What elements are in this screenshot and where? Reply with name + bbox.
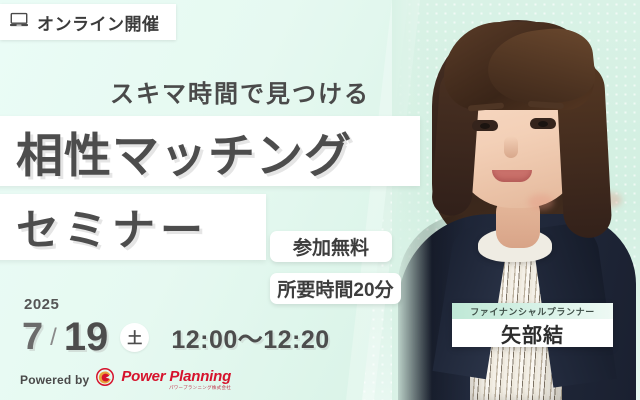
footer-branding: Powered by Power Planning パワープランニング株式会社 — [20, 368, 231, 391]
seminar-banner: オンライン開催 スキマ時間で見つける 相性マッチング セミナー 参加無料 所要時… — [0, 0, 640, 400]
speaker-name: 矢部結 — [452, 319, 613, 347]
logo-subtitle: パワープランニング株式会社 — [121, 386, 231, 391]
eye-right — [530, 118, 556, 129]
pupil-right — [538, 121, 548, 127]
pill-duration: 所要時間20分 — [270, 273, 401, 304]
title-band-primary: 相性マッチング — [0, 116, 420, 186]
event-date-row: 7 / 19 土 12:00〜12:20 — [22, 315, 330, 360]
pill-free-admission: 参加無料 — [270, 231, 392, 262]
event-weekday: 土 — [120, 323, 149, 352]
logo-name: Power Planning — [121, 369, 231, 384]
power-planning-wordmark: Power Planning パワープランニング株式会社 — [121, 369, 231, 391]
title-line-2: セミナー — [16, 196, 208, 258]
date-separator: / — [50, 324, 57, 352]
online-badge: オンライン開催 — [0, 4, 176, 40]
eye-left — [472, 120, 498, 131]
event-day: 19 — [64, 315, 109, 360]
event-month: 7 — [22, 316, 43, 359]
cheek-left — [528, 194, 554, 210]
pupil-left — [480, 123, 490, 129]
photo-left-fade — [392, 0, 432, 400]
mouth — [492, 170, 532, 182]
speaker-name-card: ファイナンシャルプランナー 矢部結 — [452, 303, 613, 347]
title-band-secondary: セミナー — [0, 194, 266, 260]
nose — [504, 136, 518, 158]
power-planning-logo-icon — [96, 368, 114, 391]
title-line-1: 相性マッチング — [16, 117, 352, 186]
event-time: 12:00〜12:20 — [171, 320, 329, 356]
powered-by-label: Powered by — [20, 373, 89, 387]
event-year: 2025 — [24, 296, 59, 313]
headline-subtitle: スキマ時間で見つける — [110, 74, 370, 109]
laptop-icon — [10, 11, 28, 34]
online-badge-label: オンライン開催 — [37, 10, 160, 35]
speaker-role: ファイナンシャルプランナー — [452, 303, 613, 319]
